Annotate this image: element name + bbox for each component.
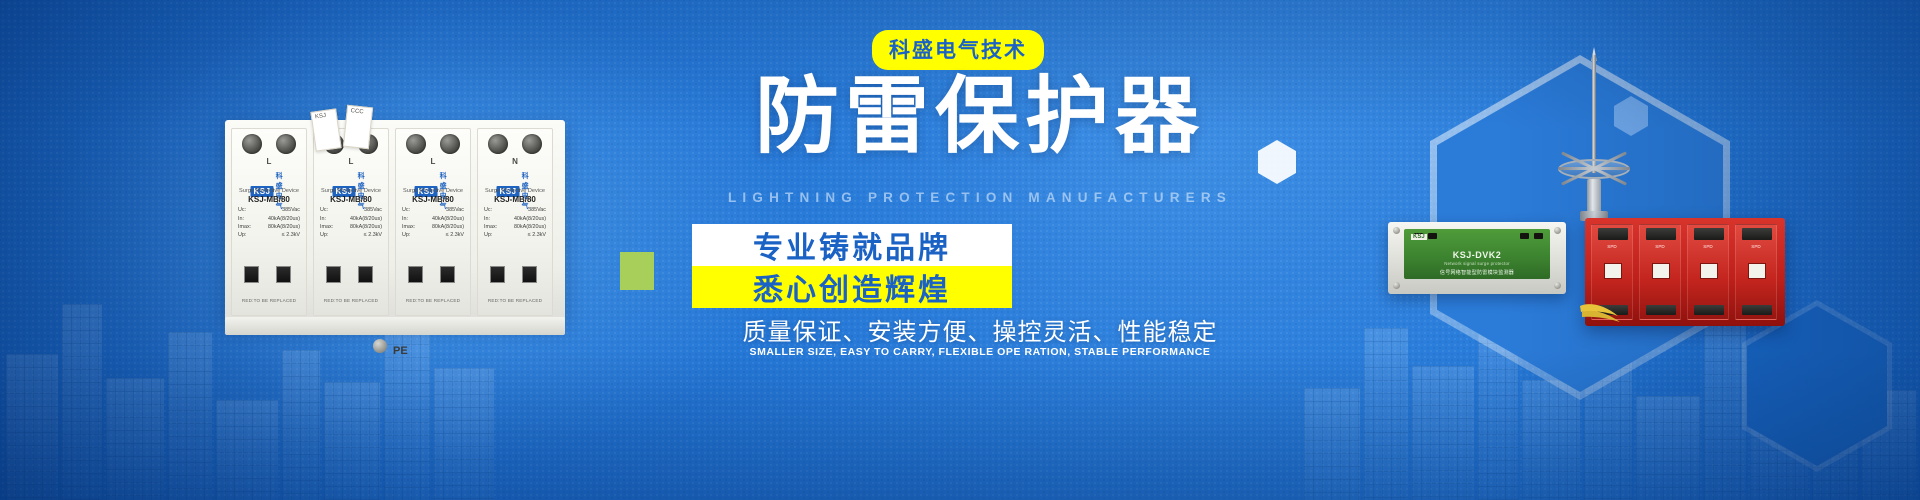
terminal-screw: [488, 134, 508, 154]
spd-footer-note: RED:TO BE REPLACED: [314, 298, 388, 303]
red-spd-pole: SPD: [1735, 224, 1777, 320]
spec-value: 385Vac: [282, 206, 300, 214]
brand-mark: KSJ: [1411, 234, 1427, 240]
spec-label: In:: [320, 215, 326, 223]
status-window: [276, 266, 291, 283]
spd-module: L KSJ 科盛电气 Surge Protective Device KSJ-M…: [231, 128, 307, 316]
company-badge: 科盛电气技术: [872, 30, 1044, 70]
rod-mast: [1592, 55, 1596, 173]
spd-spec-block: Surge Protective Device KSJ-MB/80 Uc:385…: [402, 187, 464, 239]
spec-label: Up:: [402, 231, 410, 239]
spec-value: ≤ 2.3kV: [528, 231, 546, 239]
spd-model: KSJ-MB/80: [320, 196, 382, 204]
spec-label: Uc:: [320, 206, 328, 214]
spd-pole-label: L: [232, 157, 306, 166]
spd-pole-label: L: [314, 157, 388, 166]
pcb-subtitle: Network signal surge protector: [1404, 261, 1550, 266]
slogan-secondary: 悉心创造辉煌: [692, 266, 1012, 308]
spd-heading: Surge Protective Device: [484, 187, 546, 195]
spec-label: Imax:: [402, 223, 415, 231]
spd-din-rail: [225, 317, 565, 335]
enclosure-screw: [1554, 227, 1561, 234]
terminal-block: [1694, 228, 1724, 240]
pcb-board: KSJ KSJ-DVK2 Network signal surge protec…: [1404, 229, 1550, 279]
status-window: [326, 266, 341, 283]
spec-value: 40kA(8/20us): [350, 215, 382, 223]
terminal-screw: [276, 134, 296, 154]
red-spd-pole: SPD: [1639, 224, 1681, 320]
status-window: [1748, 263, 1766, 279]
terminal-block: [1742, 305, 1772, 315]
enclosure-screw: [1554, 282, 1561, 289]
hexagon-accent-green-icon: [620, 252, 654, 290]
pe-label: PE: [393, 345, 408, 357]
spd-footer-note: RED:TO BE REPLACED: [232, 298, 306, 303]
spd-model: KSJ-MB/80: [484, 196, 546, 204]
spec-label: Up:: [238, 231, 246, 239]
spd-footer-note: RED:TO BE REPLACED: [396, 298, 470, 303]
status-window: [358, 266, 373, 283]
spec-label: Imax:: [238, 223, 251, 231]
feature-list-cn: 质量保证、安装方便、操控灵活、性能稳定: [580, 312, 1380, 347]
pcb-description-cn: 信号网络智能型防雷模块监测器: [1404, 269, 1550, 276]
status-window: [1652, 263, 1670, 279]
spec-value: 80kA(8/20us): [432, 223, 464, 231]
spec-label: In:: [402, 215, 408, 223]
spec-value: 80kA(8/20us): [268, 223, 300, 231]
spd-module-bank-image: L KSJ 科盛电气 Surge Protective Device KSJ-M…: [225, 120, 565, 335]
terminal-block: [1646, 305, 1676, 315]
enclosure-screw: [1393, 227, 1400, 234]
terminal-screw: [406, 134, 426, 154]
spd-module: L KSJ 科盛电气 Surge Protective Device KSJ-M…: [395, 128, 471, 316]
spd-pole-label: N: [478, 157, 552, 166]
spec-value: 385Vac: [528, 206, 546, 214]
spec-label: Imax:: [320, 223, 333, 231]
spec-value: 385Vac: [446, 206, 464, 214]
terminal-screw: [440, 134, 460, 154]
spd-model: KSJ-MB/80: [238, 196, 300, 204]
right-product-group: KSJ KSJ-DVK2 Network signal surge protec…: [1380, 0, 1920, 500]
spd-heading: Surge Protective Device: [238, 187, 300, 195]
spec-value: 40kA(8/20us): [432, 215, 464, 223]
spec-label: Uc:: [484, 206, 492, 214]
terminal-screw: [522, 134, 542, 154]
spd-module: N KSJ 科盛电气 Surge Protective Device KSJ-M…: [477, 128, 553, 316]
status-window: [408, 266, 423, 283]
terminal-block: [1694, 305, 1724, 315]
spd-spec-block: Surge Protective Device KSJ-MB/80 Uc:385…: [484, 187, 546, 239]
pole-text: SPD: [1640, 244, 1680, 249]
spec-value: 40kA(8/20us): [268, 215, 300, 223]
pole-text: SPD: [1688, 244, 1728, 249]
lightning-rod-image: [1530, 55, 1660, 245]
spd-footer-note: RED:TO BE REPLACED: [478, 298, 552, 303]
banner-copy-block: 科盛电气技术 防雷保护器 LIGHTNING PROTECTION MANUFA…: [580, 0, 1380, 500]
pcb-brand-logo: KSJ: [1411, 234, 1427, 240]
spd-spec-block: Surge Protective Device KSJ-MB/80 Uc:385…: [320, 187, 382, 239]
spec-value: ≤ 2.3kV: [446, 231, 464, 239]
spec-label: Uc:: [402, 206, 410, 214]
spd-heading: Surge Protective Device: [402, 187, 464, 195]
english-subtitle: LIGHTNING PROTECTION MANUFACTURERS: [580, 190, 1380, 205]
pcb-model: KSJ-DVK2: [1404, 250, 1550, 260]
promo-banner: L KSJ 科盛电气 Surge Protective Device KSJ-M…: [0, 0, 1920, 500]
spec-label: In:: [238, 215, 244, 223]
spec-label: Up:: [320, 231, 328, 239]
status-window: [440, 266, 455, 283]
slogan-group: 专业铸就品牌 悉心创造辉煌: [692, 224, 1012, 308]
spd-heading: Surge Protective Device: [320, 187, 382, 195]
spec-label: Up:: [484, 231, 492, 239]
enclosure-screw: [1393, 282, 1400, 289]
spec-value: 385Vac: [364, 206, 382, 214]
pole-text: SPD: [1592, 244, 1632, 249]
status-window: [1700, 263, 1718, 279]
spd-module: L KSJ 科盛电气 Surge Protective Device KSJ-M…: [313, 128, 389, 316]
spd-spec-block: Surge Protective Device KSJ-MB/80 Uc:385…: [238, 187, 300, 239]
spec-value: ≤ 2.3kV: [282, 231, 300, 239]
spec-value: ≤ 2.3kV: [364, 231, 382, 239]
red-spd-pole: SPD: [1687, 224, 1729, 320]
feature-list-en: SMALLER SIZE, EASY TO CARRY, FLEXIBLE OP…: [580, 346, 1380, 358]
status-window: [1604, 263, 1622, 279]
spec-value: 40kA(8/20us): [514, 215, 546, 223]
spec-label: Imax:: [484, 223, 497, 231]
spec-label: Uc:: [238, 206, 246, 214]
status-window: [490, 266, 505, 283]
pe-terminal-screw: [373, 339, 387, 353]
spec-label: In:: [484, 215, 490, 223]
status-window: [522, 266, 537, 283]
spd-model: KSJ-MB/80: [402, 196, 464, 204]
pole-text: SPD: [1736, 244, 1776, 249]
slogan-primary: 专业铸就品牌: [692, 224, 1012, 266]
terminal-block: [1646, 228, 1676, 240]
spd-pole-label: L: [396, 157, 470, 166]
hang-tag-cert: CCC: [343, 105, 373, 149]
terminal-screw: [242, 134, 262, 154]
terminal-block: [1598, 228, 1628, 240]
spec-value: 80kA(8/20us): [350, 223, 382, 231]
hang-tag-label: KSJ: [310, 108, 341, 151]
terminal-block: [1742, 228, 1772, 240]
signal-protector-image: KSJ KSJ-DVK2 Network signal surge protec…: [1388, 222, 1566, 294]
rod-housing: [1587, 179, 1601, 213]
banana-plug-cable-icon: [1578, 300, 1626, 326]
page-title: 防雷保护器: [580, 74, 1380, 158]
spec-value: 80kA(8/20us): [514, 223, 546, 231]
status-window: [244, 266, 259, 283]
